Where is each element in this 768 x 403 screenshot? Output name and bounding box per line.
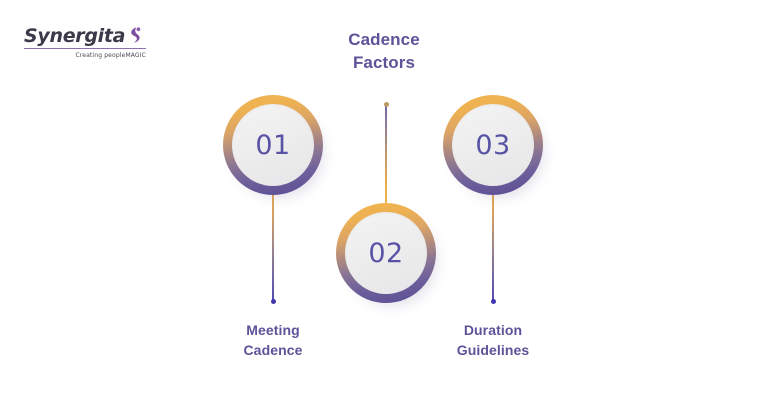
- connector-node-02: [385, 104, 387, 204]
- connector-node-01: [272, 188, 274, 302]
- caption-line2: Cadence: [183, 340, 363, 360]
- connector-line: [272, 188, 274, 302]
- page-title-line1: Cadence: [348, 30, 420, 49]
- node-number: 01: [255, 132, 290, 159]
- connector-dot: [271, 299, 276, 304]
- connector-node-03: [492, 188, 494, 302]
- infographic-canvas: Synergita Creating peopleMAGIC Cadence F…: [0, 0, 768, 403]
- circle-inner: 02: [345, 212, 427, 294]
- caption-line2: Guidelines: [403, 340, 583, 360]
- caption-node-03: Duration Guidelines: [403, 320, 583, 360]
- caption-node-01: Meeting Cadence: [183, 320, 363, 360]
- page-title-line2: Factors: [0, 51, 768, 74]
- circle-inner: 01: [232, 104, 314, 186]
- circle-inner: 03: [452, 104, 534, 186]
- connector-line: [385, 104, 387, 204]
- connector-dot: [491, 299, 496, 304]
- connector-line: [492, 188, 494, 302]
- page-title: Cadence Factors: [0, 28, 768, 74]
- caption-line1: Meeting: [246, 322, 300, 338]
- caption-line1: Duration: [464, 322, 522, 338]
- connector-dot: [384, 102, 389, 107]
- node-number: 03: [475, 132, 510, 159]
- node-number: 02: [368, 240, 403, 267]
